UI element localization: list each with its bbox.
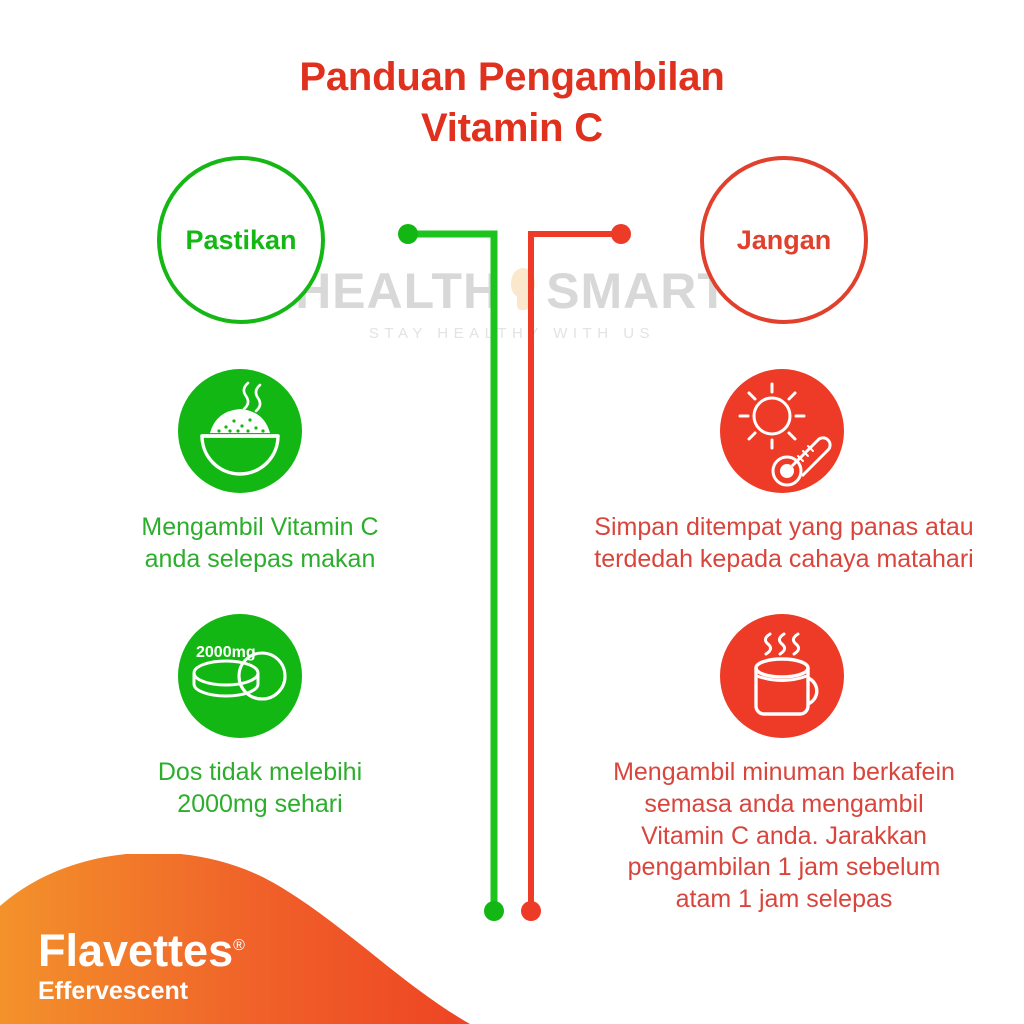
- caption-bad-2-line-3: Vitamin C anda. Jarakkan: [556, 821, 1012, 853]
- caption-bad-2-line-1: Mengambil minuman berkafein: [556, 757, 1012, 789]
- rice-bowl-icon: [178, 369, 302, 493]
- lightbulb-icon: [506, 268, 540, 314]
- caption-good-1: Mengambil Vitamin C anda selepas makan: [60, 512, 460, 576]
- caption-bad-2-line-5: atam 1 jam selepas: [556, 884, 1012, 916]
- watermark: HEALTH SMART STAY HEALTHY WITH US: [0, 266, 1024, 342]
- connector-dot-good-bottom: [484, 901, 504, 921]
- title-line-2: Vitamin C: [0, 103, 1024, 154]
- watermark-text-health: HEALTH: [295, 266, 500, 316]
- caption-good-1-line-2: anda selepas makan: [60, 544, 460, 576]
- tablets-icon: 2000mg: [178, 614, 302, 738]
- caption-bad-2: Mengambil minuman berkafein semasa anda …: [556, 757, 1012, 916]
- caption-good-1-line-1: Mengambil Vitamin C: [60, 512, 460, 544]
- brand-name: Flavettes®: [38, 928, 245, 973]
- caption-bad-2-line-2: semasa anda mengambil: [556, 789, 1012, 821]
- caption-bad-1-line-1: Simpan ditempat yang panas atau: [556, 512, 1012, 544]
- sun-thermometer-icon: [720, 369, 844, 493]
- column-header-jangan-label: Jangan: [737, 225, 832, 256]
- watermark-main: HEALTH SMART: [0, 266, 1024, 316]
- watermark-tagline: STAY HEALTHY WITH US: [0, 325, 1024, 342]
- page-title: Panduan Pengambilan Vitamin C: [0, 52, 1024, 154]
- column-header-jangan: Jangan: [700, 156, 868, 324]
- registered-trademark-icon: ®: [233, 937, 245, 954]
- caption-good-2-line-1: Dos tidak melebihi: [60, 757, 460, 789]
- caption-bad-1-line-2: terdedah kepada cahaya matahari: [556, 544, 1012, 576]
- caption-good-2-line-2: 2000mg sehari: [60, 789, 460, 821]
- infographic-canvas: Panduan Pengambilan Vitamin C HEALTH SMA…: [0, 0, 1024, 1024]
- caption-bad-2-line-4: pengambilan 1 jam sebelum: [556, 852, 1012, 884]
- caption-bad-1: Simpan ditempat yang panas atau terdedah…: [556, 512, 1012, 576]
- brand-logo: Flavettes® Effervescent: [38, 928, 245, 1006]
- brand-subtitle: Effervescent: [38, 976, 245, 1006]
- connector-dot-bad-top: [611, 224, 631, 244]
- brand-name-text: Flavettes: [38, 925, 233, 976]
- caption-good-2: Dos tidak melebihi 2000mg sehari: [60, 757, 460, 821]
- watermark-text-smart: SMART: [546, 266, 729, 316]
- column-header-pastikan: Pastikan: [157, 156, 325, 324]
- hot-mug-icon: [720, 614, 844, 738]
- title-line-1: Panduan Pengambilan: [0, 52, 1024, 103]
- connector-dot-bad-bottom: [521, 901, 541, 921]
- connector-dot-good-top: [398, 224, 418, 244]
- column-header-pastikan-label: Pastikan: [185, 225, 296, 256]
